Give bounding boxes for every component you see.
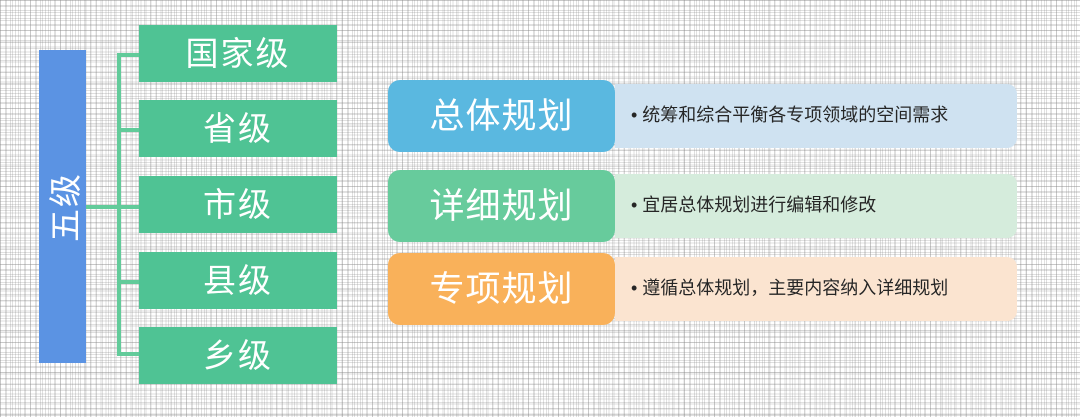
level-box-township[interactable]: 乡级 bbox=[139, 327, 337, 384]
level-box-county[interactable]: 县级 bbox=[139, 252, 337, 309]
bracket-trunk-line bbox=[86, 205, 121, 209]
level-label-municipal: 市级 bbox=[203, 188, 273, 221]
plan-description-text-special: • 遵循总体规划，主要内容纳入详细规划 bbox=[615, 277, 948, 300]
plan-description-master: • 统筹和综合平衡各专项领域的空间需求 bbox=[615, 84, 1017, 148]
diagram-canvas: 五级 国家级 省级 市级 县级 乡级 • 统筹和综合平衡各专项领域的空间需求 总… bbox=[0, 0, 1080, 417]
bracket-stub-4 bbox=[117, 280, 140, 284]
level-box-municipal[interactable]: 市级 bbox=[139, 176, 337, 233]
category-bar-five-levels[interactable]: 五级 bbox=[39, 50, 86, 363]
plan-chip-label-master: 总体规划 bbox=[429, 99, 573, 134]
plan-chip-master[interactable]: 总体规划 bbox=[388, 80, 615, 152]
bracket-stub-5 bbox=[117, 352, 140, 356]
level-box-national[interactable]: 国家级 bbox=[139, 25, 337, 82]
plan-description-special: • 遵循总体规划，主要内容纳入详细规划 bbox=[615, 257, 1017, 321]
plan-chip-label-detailed: 详细规划 bbox=[429, 189, 573, 224]
category-bar-label: 五级 bbox=[39, 172, 87, 242]
plan-row-special: • 遵循总体规划，主要内容纳入详细规划 专项规划 bbox=[388, 253, 1017, 325]
plan-description-detailed: • 宜居总体规划进行编辑和修改 bbox=[615, 174, 1017, 238]
plan-chip-detailed[interactable]: 详细规划 bbox=[388, 170, 615, 242]
plan-description-text-detailed: • 宜居总体规划进行编辑和修改 bbox=[615, 194, 876, 217]
plan-description-text-master: • 统筹和综合平衡各专项领域的空间需求 bbox=[615, 104, 948, 127]
bracket-stub-3 bbox=[117, 205, 140, 209]
plan-chip-label-special: 专项规划 bbox=[429, 272, 573, 307]
bracket-stub-2 bbox=[117, 128, 140, 132]
bracket-stub-1 bbox=[117, 53, 140, 57]
level-label-township: 乡级 bbox=[203, 339, 273, 372]
level-label-county: 县级 bbox=[203, 264, 273, 297]
plan-row-master: • 统筹和综合平衡各专项领域的空间需求 总体规划 bbox=[388, 80, 1017, 152]
plan-row-detailed: • 宜居总体规划进行编辑和修改 详细规划 bbox=[388, 170, 1017, 242]
level-label-provincial: 省级 bbox=[203, 112, 273, 145]
level-box-provincial[interactable]: 省级 bbox=[139, 100, 337, 157]
plan-chip-special[interactable]: 专项规划 bbox=[388, 253, 615, 325]
level-label-national: 国家级 bbox=[186, 37, 291, 70]
